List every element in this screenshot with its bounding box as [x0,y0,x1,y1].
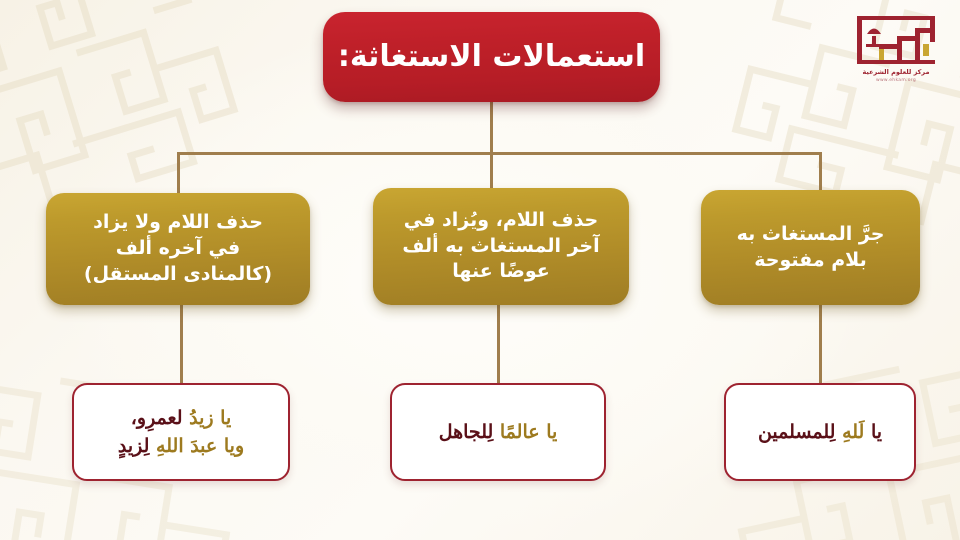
example-segment: لَلهِ [835,421,864,443]
example-segment: يا زيدُ [183,407,232,429]
example-box-branch-3: يا لَلهِ لِلمسلمين [724,383,916,481]
rule-text-branch-2: حذف اللام، ويُزاد في آخر المستغاث به ألف… [402,208,599,285]
example-segment: لِلمسلمين [758,421,835,443]
example-box-branch-2: يا عالمًا لِلجاهل [390,383,606,481]
logo-subtitle: مركز للعلوم الشرعية [846,68,946,77]
rule-box-branch-1: حذف اللام ولا يزاد في آخره ألف (كالمنادى… [46,193,310,305]
connector-drop-branch-2 [490,152,493,190]
connector-rule-to-example-1 [180,303,183,385]
example-segment: يا [864,421,882,443]
diagram-canvas: استعمالات الاستغاثة: حذف اللام ولا يزاد … [0,0,960,540]
page-title: استعمالات الاستغاثة: [338,39,645,75]
brand-logo: مركز للعلوم الشرعية www.ehkam.org [846,14,946,83]
example-segment: يا عالمًا [493,421,557,443]
example-text-branch-2: يا عالمًا لِلجاهل [439,418,558,447]
example-segment: لعمرِو، [131,407,183,429]
connector-horizontal-bus [177,152,821,155]
example-text-branch-1: يا زيدُ لعمرِو،ويا عبدَ اللهِ لِزيدٍ [118,404,244,461]
connector-drop-branch-1 [177,152,180,195]
rule-box-branch-3: جرَّ المستغاث به بلام مفتوحة [701,190,920,305]
rule-box-branch-2: حذف اللام، ويُزاد في آخر المستغاث به ألف… [373,188,629,305]
rule-text-branch-1: حذف اللام ولا يزاد في آخره ألف (كالمنادى… [84,210,272,287]
connector-title-stem [490,100,493,154]
ehkam-wordmark-icon [853,14,939,66]
example-segment: ويا عبدَ اللهِ [149,435,244,457]
example-text-branch-3: يا لَلهِ لِلمسلمين [758,418,882,447]
example-box-branch-1: يا زيدُ لعمرِو،ويا عبدَ اللهِ لِزيدٍ [72,383,290,481]
example-segment: لِزيدٍ [118,435,150,457]
diagram-title-box: استعمالات الاستغاثة: [323,12,660,102]
connector-rule-to-example-3 [819,303,822,385]
connector-drop-branch-3 [819,152,822,192]
connector-rule-to-example-2 [497,303,500,385]
example-segment: لِلجاهل [439,421,494,443]
logo-url: www.ehkam.org [846,78,946,83]
rule-text-branch-3: جرَّ المستغاث به بلام مفتوحة [737,222,885,274]
